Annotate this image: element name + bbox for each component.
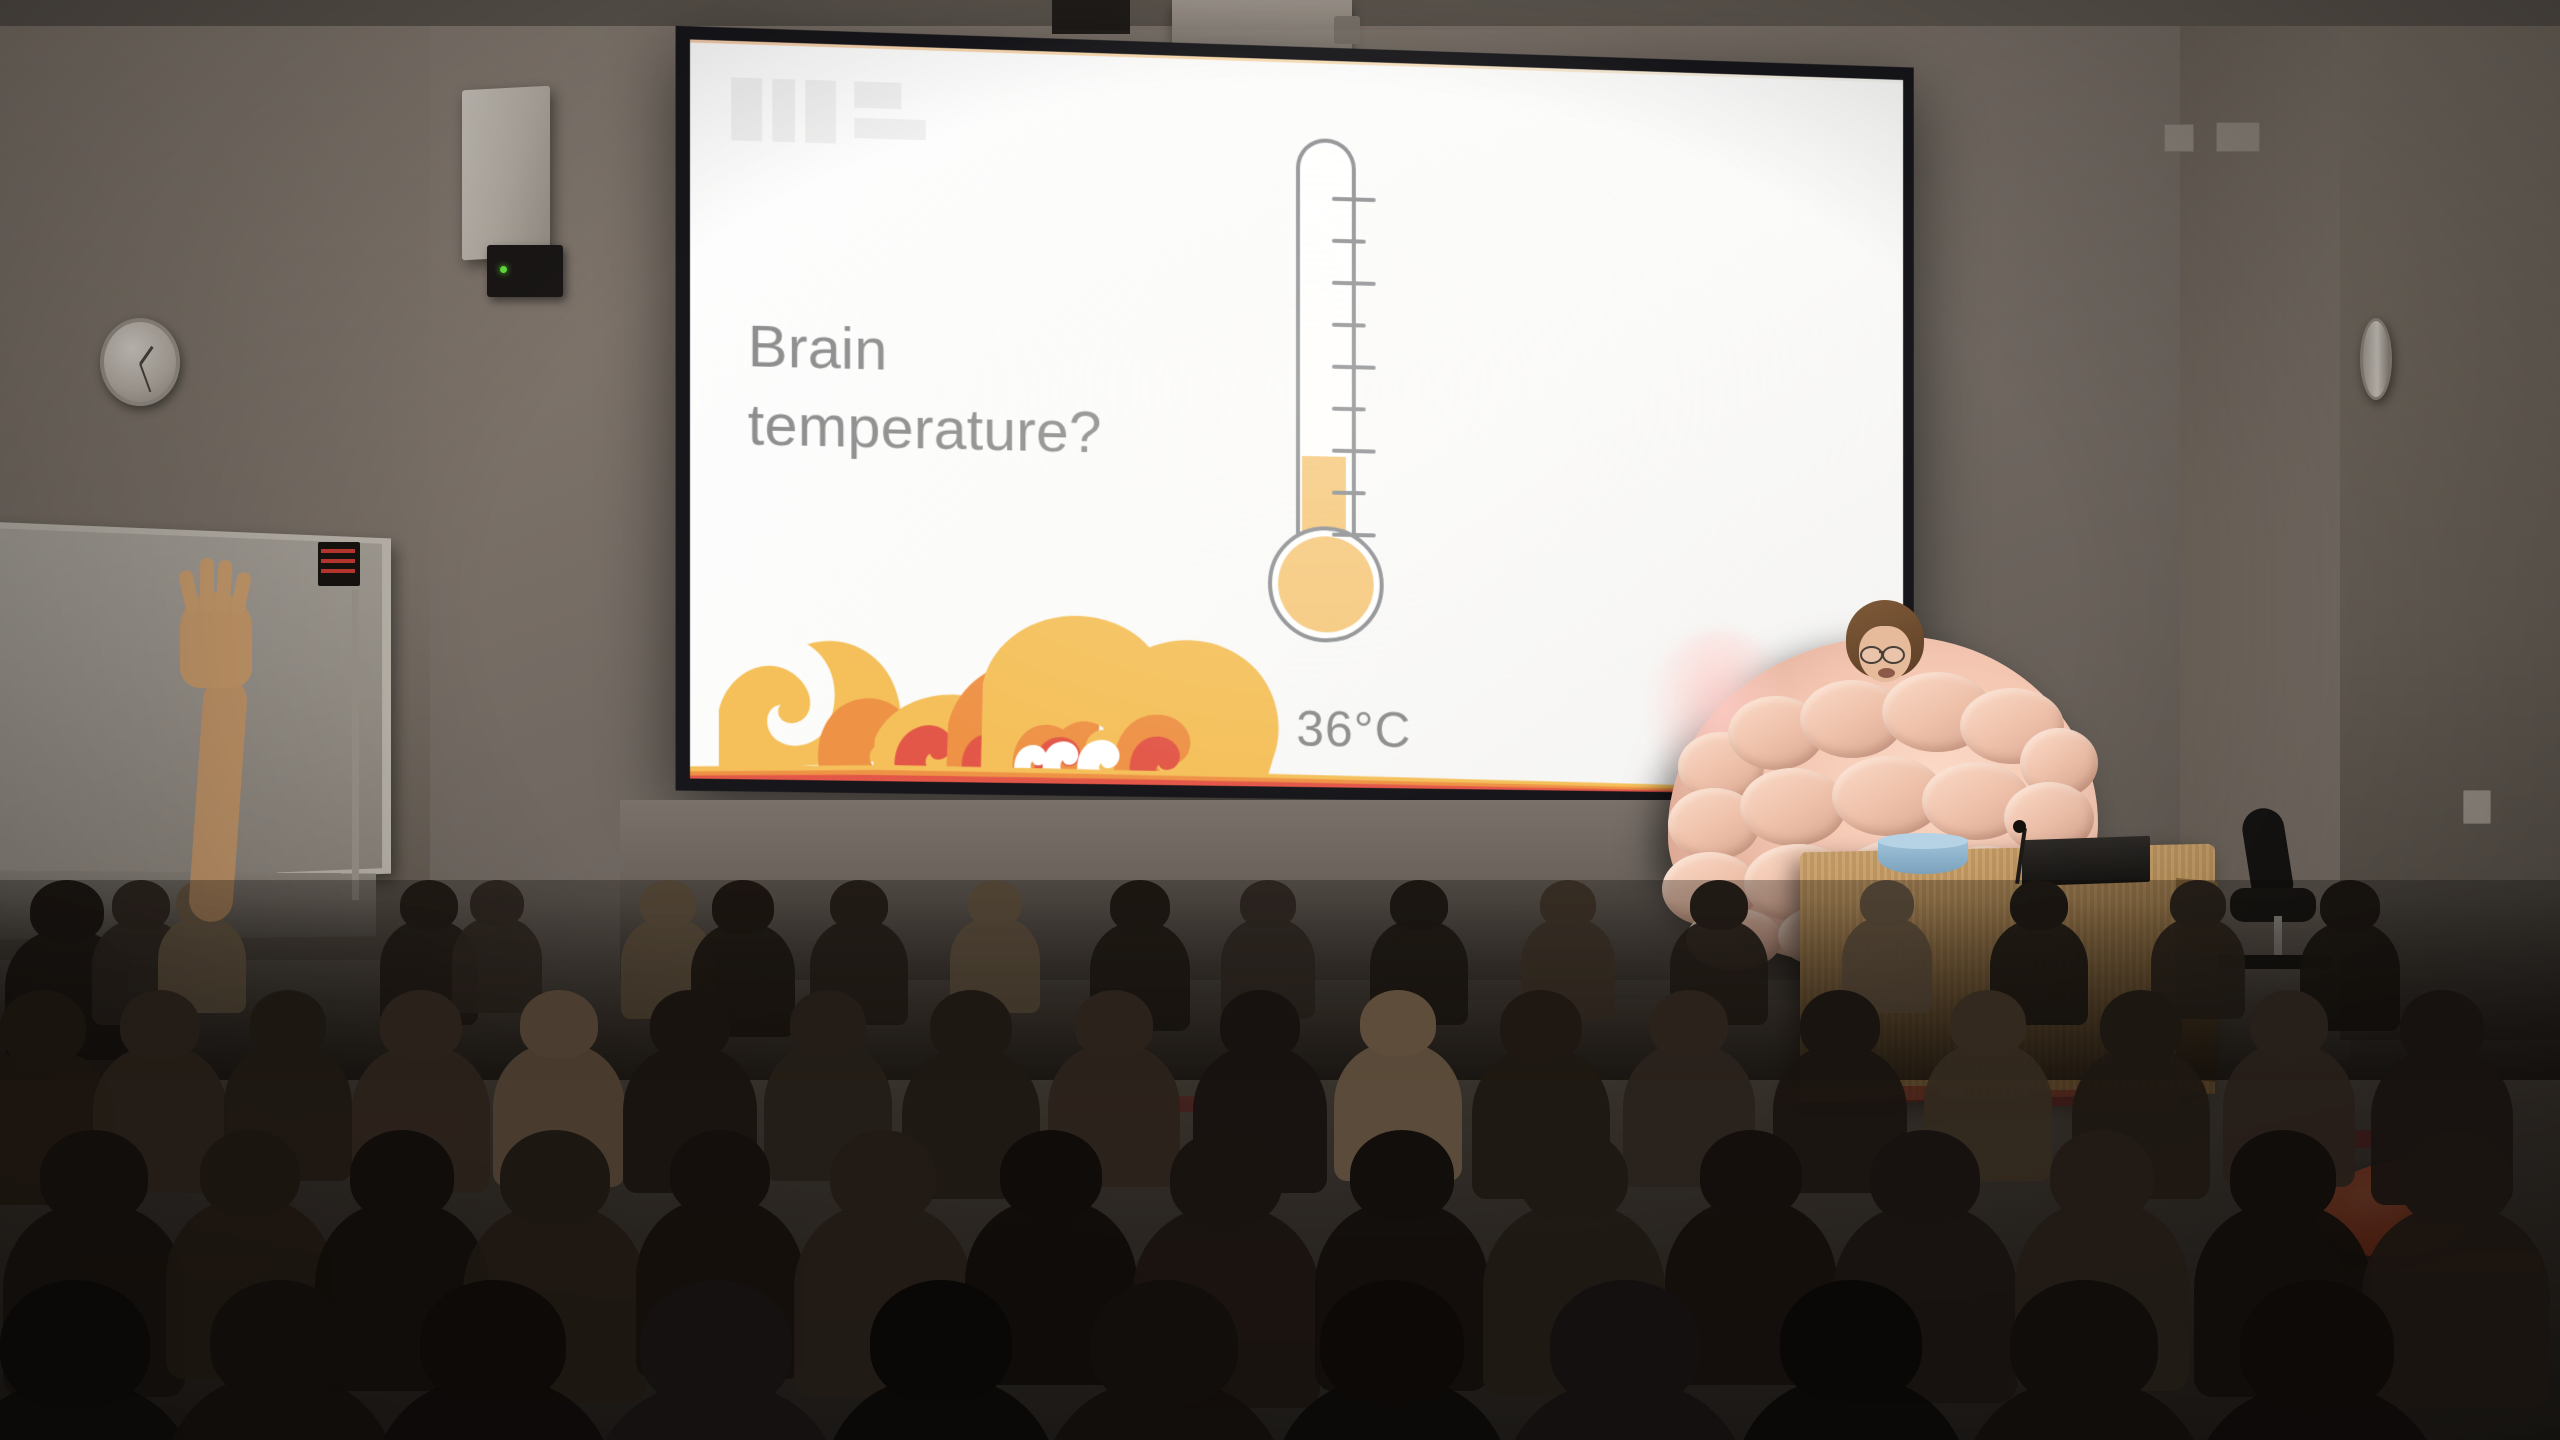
presenter-mouth <box>1878 668 1895 678</box>
audience-head <box>0 990 86 1064</box>
audience-head <box>2170 880 2226 928</box>
power-socket <box>2164 124 2194 152</box>
audience-head <box>470 880 524 926</box>
thermometer-tick <box>1332 407 1366 412</box>
audience-head <box>1690 880 1748 930</box>
glasses-icon <box>1882 646 1905 664</box>
audience <box>0 880 2560 1440</box>
flame-wave-graphic <box>719 557 1287 778</box>
audience-head <box>830 880 888 930</box>
speaker-icon <box>462 86 550 261</box>
audience-head <box>420 1280 566 1404</box>
slide-title-line-2: temperature? <box>748 386 1255 476</box>
audience-head <box>380 990 462 1060</box>
audience-head <box>1780 1280 1922 1402</box>
audience-member <box>452 917 543 1014</box>
audience-head <box>210 1280 350 1400</box>
audience-head <box>2050 1130 2154 1220</box>
audience-head <box>1500 990 1582 1062</box>
audience-head <box>1110 880 1170 932</box>
audience-head <box>1860 880 1914 926</box>
audience-head <box>2100 990 2182 1062</box>
audience-head <box>2230 1130 2336 1222</box>
audience-head <box>1000 1130 1102 1218</box>
slide-title-line-1: Brain <box>748 307 1255 398</box>
audience-head <box>1320 1280 1464 1404</box>
audience-head <box>2240 1280 2394 1412</box>
microphone-head <box>2013 820 2026 833</box>
audience-head <box>40 1130 148 1222</box>
audience-head <box>350 1130 454 1220</box>
power-socket <box>2463 790 2491 824</box>
audience-head <box>670 1130 770 1216</box>
audience-head <box>640 1280 792 1410</box>
audience-head <box>830 1130 936 1222</box>
audience-head <box>968 880 1022 926</box>
finger <box>200 558 214 612</box>
audience-head <box>1170 1130 1282 1226</box>
projector-lens <box>1334 16 1360 44</box>
audience-head <box>250 990 326 1056</box>
lecture-hall-scene: Brain temperature? 36°C <box>0 0 2560 1440</box>
audience-head <box>1800 990 1880 1060</box>
thermometer-tick <box>1332 491 1366 496</box>
audience-head <box>2010 880 2068 930</box>
status-led <box>500 266 507 273</box>
audience-head <box>1950 990 2026 1056</box>
page-title: Brain temperature? <box>748 307 1255 475</box>
clock-icon <box>100 318 180 406</box>
audience-head <box>2400 990 2484 1064</box>
audience-head <box>870 1280 1012 1402</box>
audience-head <box>30 880 104 942</box>
audience-head <box>112 880 170 930</box>
brain-lobe <box>1740 768 1846 846</box>
audience-head <box>1220 990 1300 1060</box>
audience-head <box>1520 1130 1628 1222</box>
thermometer-tick <box>1332 323 1366 328</box>
audience-head <box>1090 1280 1238 1406</box>
audience-head <box>930 990 1012 1062</box>
forearm <box>188 677 249 923</box>
glasses-bridge <box>1879 651 1884 653</box>
clock-hour-hand <box>140 346 154 365</box>
audience-head <box>650 990 730 1060</box>
slide-logo <box>731 77 966 151</box>
audience-head <box>1350 1130 1454 1220</box>
audience-head <box>200 1130 300 1216</box>
power-socket <box>2216 122 2260 152</box>
blue-bowl-rim <box>1878 833 1968 849</box>
audience-head <box>1870 1130 1980 1224</box>
glasses-icon <box>1860 646 1883 664</box>
audience-head <box>1540 880 1596 928</box>
audience-head <box>1650 990 1728 1058</box>
ceiling-mount <box>1052 0 1130 34</box>
clock-icon <box>2360 318 2392 400</box>
laptop <box>2022 836 2150 886</box>
audience-head <box>1240 880 1296 928</box>
audience-head <box>2010 1280 2158 1406</box>
audience-head <box>2400 1130 2512 1226</box>
audience-head <box>400 880 458 930</box>
clock-minute-hand <box>139 363 151 392</box>
audience-member <box>2362 1207 2550 1409</box>
raised-hand <box>172 592 268 922</box>
audience-head <box>500 1130 610 1224</box>
audience-head <box>712 880 774 934</box>
thermometer-bulb-fill <box>1278 535 1374 633</box>
audience-head <box>120 990 200 1060</box>
audience-head <box>790 990 866 1056</box>
audience-head <box>1390 880 1448 930</box>
audience-head <box>2250 990 2328 1058</box>
audience-head <box>1075 990 1153 1058</box>
thermometer-ticks <box>1244 136 1463 143</box>
projector-icon <box>487 245 563 297</box>
whiteboard-stand <box>352 590 359 900</box>
audience-head <box>640 880 696 928</box>
audience-head <box>1360 990 1436 1056</box>
audience-head <box>1550 1280 1700 1408</box>
marker-holder <box>318 542 360 586</box>
audience-head <box>1700 1130 1802 1218</box>
audience-head <box>0 1280 150 1408</box>
audience-head <box>520 990 598 1058</box>
audience-head <box>2320 880 2380 932</box>
